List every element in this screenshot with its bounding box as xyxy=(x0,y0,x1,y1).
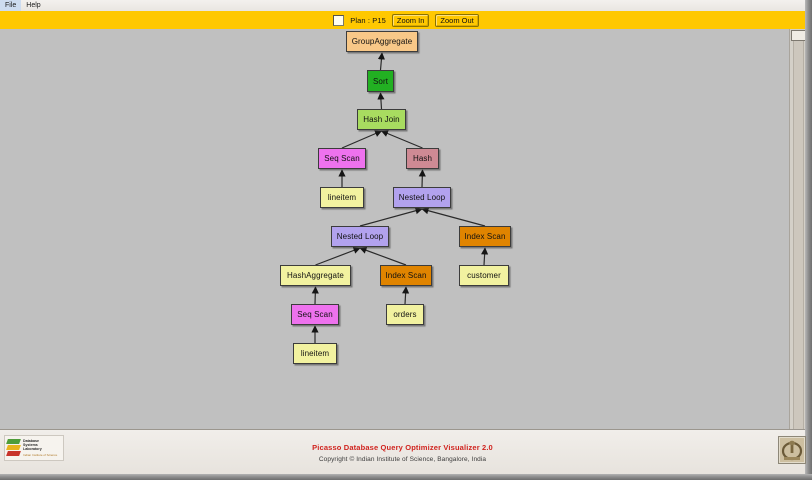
iisc-crest-icon xyxy=(780,438,804,462)
plan-node-label: Index Scan xyxy=(464,232,505,241)
picasso-window: File Help Plan : P15 Zoom In Zoom Out Gr… xyxy=(0,0,812,480)
plan-edge-nestedloop_low-to-nestedloop_up xyxy=(360,209,422,226)
plan-edge-orders-to-indexscan_ord xyxy=(405,287,406,304)
plan-label: Plan : P15 xyxy=(350,16,386,25)
plan-edge-hashjoin-to-sort xyxy=(381,93,382,109)
plan-node-label: Nested Loop xyxy=(337,232,383,241)
plan-node-seqscan_low[interactable]: Seq Scan xyxy=(291,304,339,325)
zoom-out-button[interactable]: Zoom Out xyxy=(435,14,478,27)
plan-toolbar: Plan : P15 Zoom In Zoom Out xyxy=(0,11,812,30)
plan-edge-seqscan_low-to-hashaggregate xyxy=(315,287,316,304)
plan-node-label: Seq Scan xyxy=(297,310,333,319)
dsl-stack-icon xyxy=(7,439,21,457)
plan-node-hashaggregate[interactable]: HashAggregate xyxy=(280,265,351,286)
plan-node-indexscan_cust[interactable]: Index Scan xyxy=(459,226,511,247)
plan-edge-indexscan_cust-to-nestedloop_up xyxy=(422,209,485,226)
plan-node-seqscan_top[interactable]: Seq Scan xyxy=(318,148,366,169)
plan-tree-edges xyxy=(0,29,790,429)
plan-node-label: HashAggregate xyxy=(287,271,344,280)
plan-node-lineitem_low[interactable]: lineitem xyxy=(293,343,337,364)
plan-node-label: lineitem xyxy=(328,193,356,202)
plan-node-label: Hash xyxy=(413,154,432,163)
database-systems-lab-logo: Database Systems Laboratory Indian Insti… xyxy=(4,435,64,461)
plan-edge-nestedloop_up-to-hash xyxy=(422,170,423,187)
plan-node-orders[interactable]: orders xyxy=(386,304,424,325)
plan-node-lineitem_top[interactable]: lineitem xyxy=(320,187,364,208)
footer-bar: Picasso Database Query Optimizer Visuali… xyxy=(0,429,805,475)
window-bottom-edge xyxy=(0,474,812,480)
plan-node-hashjoin[interactable]: Hash Join xyxy=(357,109,406,130)
plan-node-sort[interactable]: Sort xyxy=(367,70,394,92)
vertical-scrollbar[interactable] xyxy=(789,29,805,429)
plan-node-label: lineitem xyxy=(301,349,329,358)
plan-node-groupaggregate[interactable]: GroupAggregate xyxy=(346,31,418,52)
plan-edge-sort-to-groupaggregate xyxy=(381,53,383,70)
plan-node-label: Sort xyxy=(373,77,388,86)
window-right-edge xyxy=(805,0,812,480)
plan-node-customer[interactable]: customer xyxy=(459,265,509,286)
iisc-crest-logo xyxy=(778,436,806,464)
dsl-logo-sub: Indian Institute of Science xyxy=(23,453,57,457)
plan-node-hash[interactable]: Hash xyxy=(406,148,439,169)
menu-file[interactable]: File xyxy=(0,0,21,11)
plan-node-nestedloop_up[interactable]: Nested Loop xyxy=(393,187,451,208)
plan-node-label: GroupAggregate xyxy=(352,37,413,46)
dsl-logo-line3: Laboratory xyxy=(23,447,57,451)
plan-edge-seqscan_top-to-hashjoin xyxy=(342,131,382,148)
plan-node-label: customer xyxy=(467,271,501,280)
plan-node-label: Seq Scan xyxy=(324,154,360,163)
plan-checkbox[interactable] xyxy=(333,15,344,26)
plan-node-label: Index Scan xyxy=(385,271,426,280)
plan-tree-canvas[interactable]: GroupAggregateSortHash JoinSeq ScanHashl… xyxy=(0,29,790,429)
plan-node-nestedloop_low[interactable]: Nested Loop xyxy=(331,226,389,247)
plan-edge-indexscan_ord-to-nestedloop_low xyxy=(360,248,406,265)
scrollbar-track[interactable] xyxy=(793,41,804,429)
menu-help[interactable]: Help xyxy=(21,0,45,11)
zoom-in-button[interactable]: Zoom In xyxy=(392,14,430,27)
plan-edge-customer-to-indexscan_cust xyxy=(484,248,485,265)
plan-node-label: orders xyxy=(393,310,416,319)
scrollbar-thumb[interactable] xyxy=(791,30,806,41)
plan-node-label: Hash Join xyxy=(363,115,399,124)
plan-node-indexscan_ord[interactable]: Index Scan xyxy=(380,265,432,286)
plan-node-label: Nested Loop xyxy=(399,193,445,202)
plan-edge-hashaggregate-to-nestedloop_low xyxy=(316,248,361,265)
plan-edge-hash-to-hashjoin xyxy=(382,131,423,148)
copyright-text: Copyright © Indian Institute of Science,… xyxy=(319,456,486,463)
product-title: Picasso Database Query Optimizer Visuali… xyxy=(312,443,493,452)
